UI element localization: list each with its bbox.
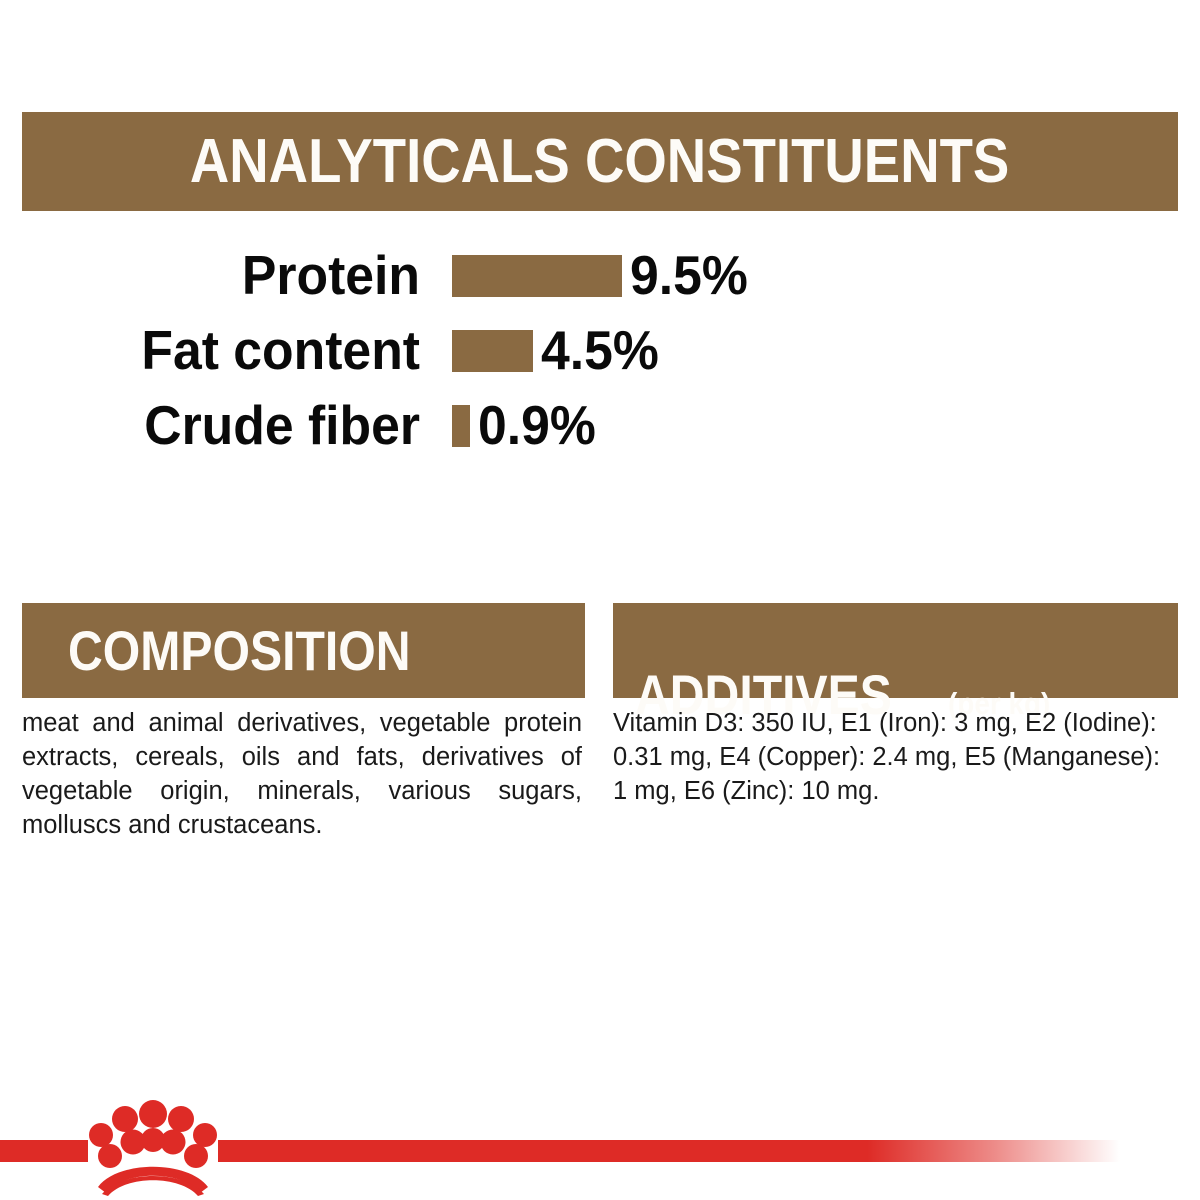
nutrition-panel: ANALYTICALS CONSTITUENTS Protein 9.5% Fa… xyxy=(0,0,1200,1200)
analyticals-header-ribbon: ANALYTICALS CONSTITUENTS xyxy=(22,112,1178,211)
composition-body-text: meat and animal derivatives, vegetable p… xyxy=(22,706,582,842)
nutrient-row: Crude fiber 0.9% xyxy=(0,388,1200,463)
analyticals-chart: Protein 9.5% Fat content 4.5% Crude fibe… xyxy=(0,238,1200,463)
nutrient-value-crude-fiber: 0.9% xyxy=(478,398,596,453)
nutrient-row: Fat content 4.5% xyxy=(0,313,1200,388)
composition-header-ribbon: COMPOSITION xyxy=(22,603,585,698)
nutrient-label-fat-content: Fat content xyxy=(25,323,420,378)
nutrient-row: Protein 9.5% xyxy=(0,238,1200,313)
nutrient-bar-fat-content xyxy=(452,330,533,372)
footer-brand-band xyxy=(0,1126,1200,1170)
analyticals-header-title: ANALYTICALS CONSTITUENTS xyxy=(190,131,1009,193)
footer-rule-left xyxy=(0,1140,88,1162)
royal-canin-crown-icon xyxy=(88,1090,218,1196)
footer-rule-right xyxy=(218,1140,1120,1162)
nutrient-bar-crude-fiber xyxy=(452,405,470,447)
nutrient-bar-protein xyxy=(452,255,622,297)
nutrient-label-crude-fiber: Crude fiber xyxy=(25,398,420,453)
nutrient-label-protein: Protein xyxy=(25,248,420,303)
additives-body-text: Vitamin D3: 350 IU, E1 (Iron): 3 mg, E2 … xyxy=(613,706,1178,808)
nutrient-value-fat-content: 4.5% xyxy=(541,323,659,378)
nutrient-value-protein: 9.5% xyxy=(630,248,748,303)
empty-content-area xyxy=(22,860,1178,1080)
additives-header-ribbon: ADDITIVES (per kg) xyxy=(613,603,1178,698)
composition-header-title: COMPOSITION xyxy=(68,623,410,679)
